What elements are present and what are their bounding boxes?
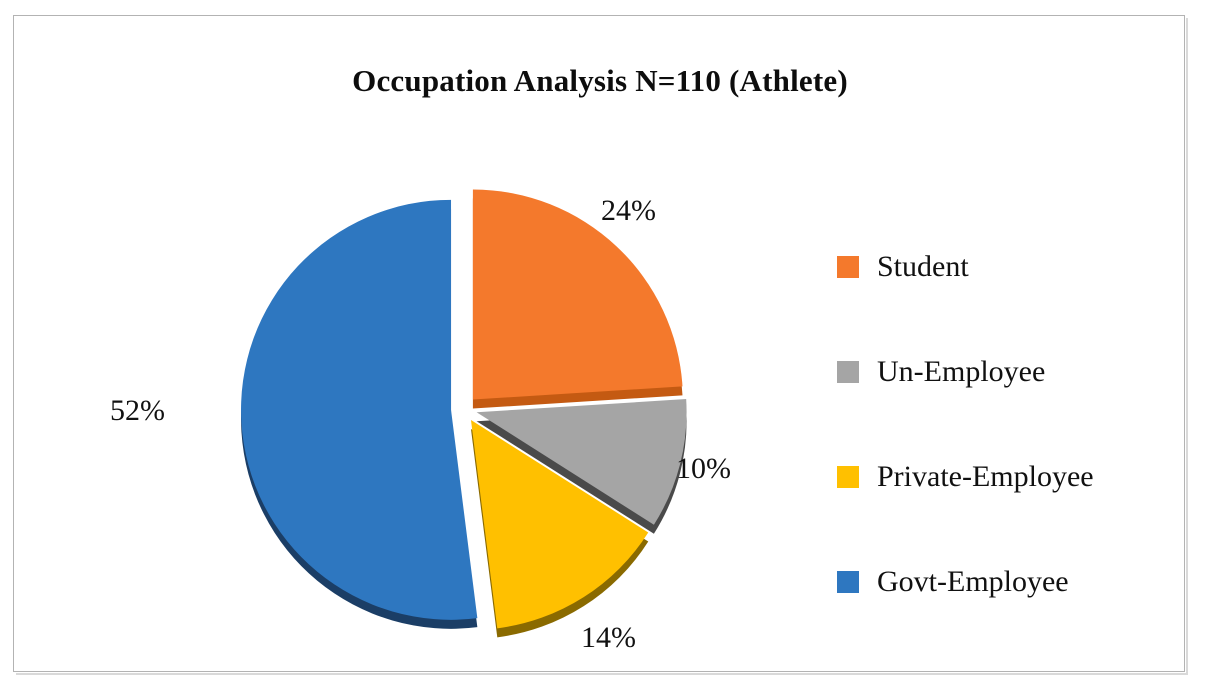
legend-item-govt-employee[interactable]: Govt-Employee (837, 529, 1167, 634)
data-label-private-employee: 14% (581, 621, 636, 655)
legend-item-un-employee[interactable]: Un-Employee (837, 319, 1167, 424)
legend-label-govt-employee: Govt-Employee (877, 567, 1069, 597)
legend-label-student: Student (877, 252, 969, 282)
pie-slice-govt-employee[interactable] (241, 200, 477, 620)
pie-slices (241, 190, 687, 629)
legend-label-un-employee: Un-Employee (877, 357, 1045, 387)
pie-chart-svg (164, 156, 764, 656)
legend-swatch-icon-un-employee (837, 361, 859, 383)
chart-legend: Student Un-Employee Private-Employee Gov… (837, 214, 1167, 634)
data-label-govt-employee: 52% (110, 394, 165, 428)
chart-page: Occupation Analysis N=110 (Athlete) 24% … (0, 0, 1206, 689)
chart-frame: Occupation Analysis N=110 (Athlete) 24% … (13, 15, 1185, 672)
legend-swatch-icon-govt-employee (837, 571, 859, 593)
data-label-un-employee: 10% (676, 452, 731, 486)
legend-swatch-icon-student (837, 256, 859, 278)
legend-swatch-icon-private-employee (837, 466, 859, 488)
legend-item-private-employee[interactable]: Private-Employee (837, 424, 1167, 529)
data-label-student: 24% (601, 194, 656, 228)
legend-item-student[interactable]: Student (837, 214, 1167, 319)
legend-label-private-employee: Private-Employee (877, 462, 1094, 492)
